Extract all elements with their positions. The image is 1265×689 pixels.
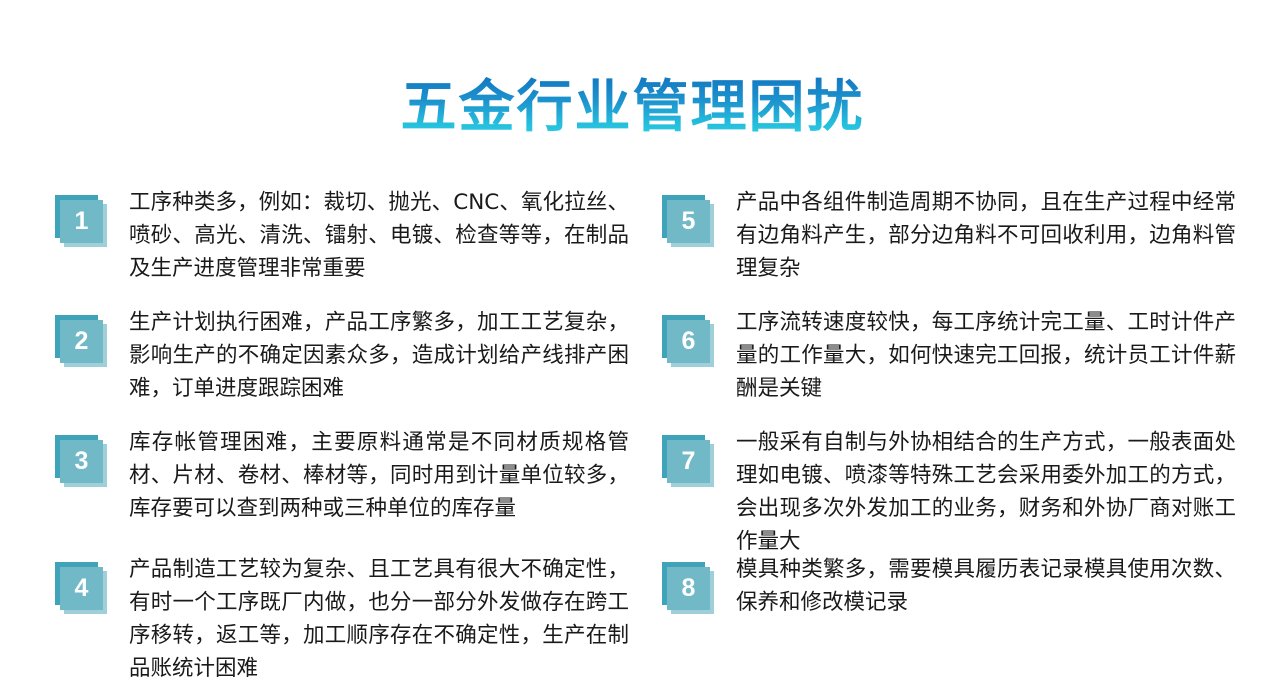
badge-number: 6 xyxy=(682,329,696,354)
list-item-text: 一般采有自制与外协相结合的生产方式，一般表面处理如电镀、喷漆等特殊工艺会采用委外… xyxy=(736,426,1236,558)
list-item-text: 产品制造工艺较为复杂、且工艺具有很大不确定性，有时一个工序既厂内做，也分一部分外… xyxy=(129,553,629,685)
number-badge: 8 xyxy=(662,562,714,614)
badge-front-square: 6 xyxy=(667,320,710,363)
list-item-text: 产品中各组件制造周期不协同，且在生产过程中经常有边角料产生，部分边角料不可回收利… xyxy=(736,186,1236,285)
list-item-text: 工序流转速度较快，每工序统计完工量、工时计件产量的工作量大，如何快速完工回报，统… xyxy=(736,306,1236,405)
number-badge: 2 xyxy=(55,315,107,367)
page-title-container: 五金行业管理困扰 xyxy=(0,38,1265,175)
list-item: 1 工序种类多，例如：裁切、抛光、CNC、氧化拉丝、喷砂、高光、清洗、镭射、电镀… xyxy=(55,186,635,285)
page-title: 五金行业管理困扰 xyxy=(401,76,865,138)
list-item: 3 库存帐管理困难，主要原料通常是不同材质规格管材、片材、卷材、棒材等，同时用到… xyxy=(55,426,635,525)
content-columns: 1 工序种类多，例如：裁切、抛光、CNC、氧化拉丝、喷砂、高光、清洗、镭射、电镀… xyxy=(0,186,1265,686)
list-item: 5 产品中各组件制造周期不协同，且在生产过程中经常有边角料产生，部分边角料不可回… xyxy=(662,186,1242,285)
badge-number: 1 xyxy=(75,209,89,234)
badge-number: 2 xyxy=(75,329,89,354)
list-item: 2 生产计划执行困难，产品工序繁多，加工工艺复杂，影响生产的不确定因素众多，造成… xyxy=(55,306,635,405)
number-badge: 6 xyxy=(662,315,714,367)
badge-front-square: 3 xyxy=(60,440,103,483)
badge-front-square: 5 xyxy=(667,200,710,243)
list-item: 8 模具种类繁多，需要模具履历表记录模具使用次数、保养和修改模记录 xyxy=(662,553,1242,619)
list-item-text: 工序种类多，例如：裁切、抛光、CNC、氧化拉丝、喷砂、高光、清洗、镭射、电镀、检… xyxy=(129,186,629,285)
badge-front-square: 4 xyxy=(60,567,103,610)
badge-number: 4 xyxy=(75,576,89,601)
badge-front-square: 8 xyxy=(667,567,710,610)
list-item-text: 生产计划执行困难，产品工序繁多，加工工艺复杂，影响生产的不确定因素众多，造成计划… xyxy=(129,306,629,405)
number-badge: 1 xyxy=(55,195,107,247)
number-badge: 4 xyxy=(55,562,107,614)
list-item-text: 库存帐管理困难，主要原料通常是不同材质规格管材、片材、卷材、棒材等，同时用到计量… xyxy=(129,426,629,525)
list-item: 7 一般采有自制与外协相结合的生产方式，一般表面处理如电镀、喷漆等特殊工艺会采用… xyxy=(662,426,1242,558)
badge-number: 7 xyxy=(682,449,696,474)
list-item: 6 工序流转速度较快，每工序统计完工量、工时计件产量的工作量大，如何快速完工回报… xyxy=(662,306,1242,405)
badge-front-square: 1 xyxy=(60,200,103,243)
badge-number: 3 xyxy=(75,449,89,474)
list-item-text: 模具种类繁多，需要模具履历表记录模具使用次数、保养和修改模记录 xyxy=(736,553,1236,619)
badge-front-square: 7 xyxy=(667,440,710,483)
badge-number: 8 xyxy=(682,576,696,601)
number-badge: 5 xyxy=(662,195,714,247)
list-item: 4 产品制造工艺较为复杂、且工艺具有很大不确定性，有时一个工序既厂内做，也分一部… xyxy=(55,553,635,685)
number-badge: 3 xyxy=(55,435,107,487)
slide-root: { "slide": { "title": "五金行业管理困扰", "title… xyxy=(0,0,1265,689)
badge-front-square: 2 xyxy=(60,320,103,363)
number-badge: 7 xyxy=(662,435,714,487)
badge-number: 5 xyxy=(682,209,696,234)
